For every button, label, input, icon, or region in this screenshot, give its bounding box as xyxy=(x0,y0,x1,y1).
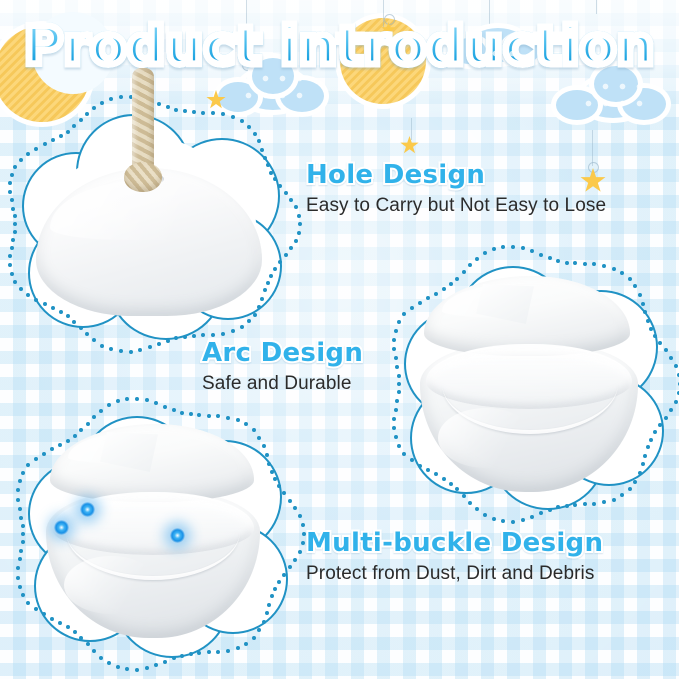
cloud-dots xyxy=(470,28,526,62)
cloud-dots xyxy=(240,70,306,110)
cloud-icon xyxy=(580,78,646,118)
star-icon xyxy=(400,136,419,155)
cloud-dots xyxy=(580,78,646,118)
feature-heading: Hole Design xyxy=(306,160,606,190)
cloud-icon xyxy=(470,28,526,62)
feature-subtitle: Safe and Durable xyxy=(202,373,363,395)
feature-image-frame-multi-buckle-design xyxy=(22,410,290,658)
buckle-marker-icon xyxy=(170,528,185,543)
product-introduction-poster: Product introduction Hol xyxy=(0,0,679,679)
buckle-marker-icon xyxy=(80,502,95,517)
page-title: Product introduction xyxy=(0,16,679,77)
feature-subtitle: Protect from Dust, Dirt and Debris xyxy=(306,563,603,585)
feature-image-frame-arc-design xyxy=(398,258,666,510)
feature-text-hole-design: Hole Design Easy to Carry but Not Easy t… xyxy=(306,160,606,217)
buckle-marker-icon xyxy=(54,520,69,535)
rope-knot xyxy=(124,162,162,192)
feature-text-multi-buckle-design: Multi-buckle Design Protect from Dust, D… xyxy=(306,528,603,585)
feature-subtitle: Easy to Carry but Not Easy to Lose xyxy=(306,195,606,217)
feature-heading: Arc Design xyxy=(202,338,363,368)
feature-text-arc-design: Arc Design Safe and Durable xyxy=(202,338,363,395)
cloud-icon xyxy=(240,70,306,110)
hanging-thread xyxy=(411,118,412,140)
hanging-thread xyxy=(596,0,597,14)
feature-heading: Multi-buckle Design xyxy=(306,528,603,558)
feature-image-frame-hole-design xyxy=(14,108,286,340)
